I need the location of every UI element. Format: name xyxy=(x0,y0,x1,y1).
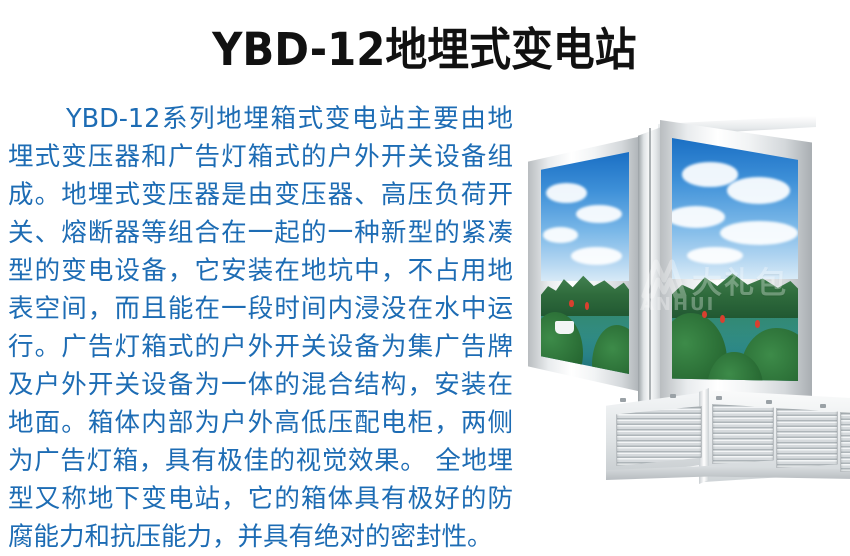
cloud xyxy=(720,221,798,245)
vent-panel xyxy=(840,412,850,472)
cloud xyxy=(576,205,622,223)
light-box-panel-left xyxy=(541,152,629,374)
product-description: YBD-12系列地埋箱式变电站主要由地埋式变压器和广告灯箱式的户外开关设备组成。… xyxy=(8,100,513,556)
bolt xyxy=(670,394,676,398)
bolt xyxy=(820,404,826,408)
page-title: YBD-12地埋式变电站 xyxy=(29,24,820,76)
vent-panel xyxy=(776,408,838,468)
landscape-scene-left xyxy=(541,152,629,374)
light-box-panel-right xyxy=(672,138,798,381)
bolt xyxy=(716,396,722,400)
vent-panel xyxy=(616,406,702,466)
cloud xyxy=(682,162,737,186)
lantern xyxy=(720,315,725,322)
landscape-scene-right xyxy=(672,138,798,381)
substation-cabinet: 大礼包 ANHUI xyxy=(520,108,850,438)
bolt xyxy=(620,398,626,402)
product-photo: 大礼包 ANHUI xyxy=(520,108,850,438)
cloud xyxy=(546,183,586,203)
vent-panel xyxy=(712,404,774,464)
boat xyxy=(555,321,574,334)
page-root: YBD-12地埋式变电站 YBD-12系列地埋箱式变电站主要由地埋式变压器和广告… xyxy=(0,0,850,503)
bolt xyxy=(766,400,772,404)
cabinet-corner-seam xyxy=(649,128,651,403)
lantern xyxy=(755,320,760,327)
cloud xyxy=(543,227,578,243)
cloud xyxy=(727,177,790,204)
cloud xyxy=(672,206,725,228)
lantern xyxy=(569,300,573,308)
